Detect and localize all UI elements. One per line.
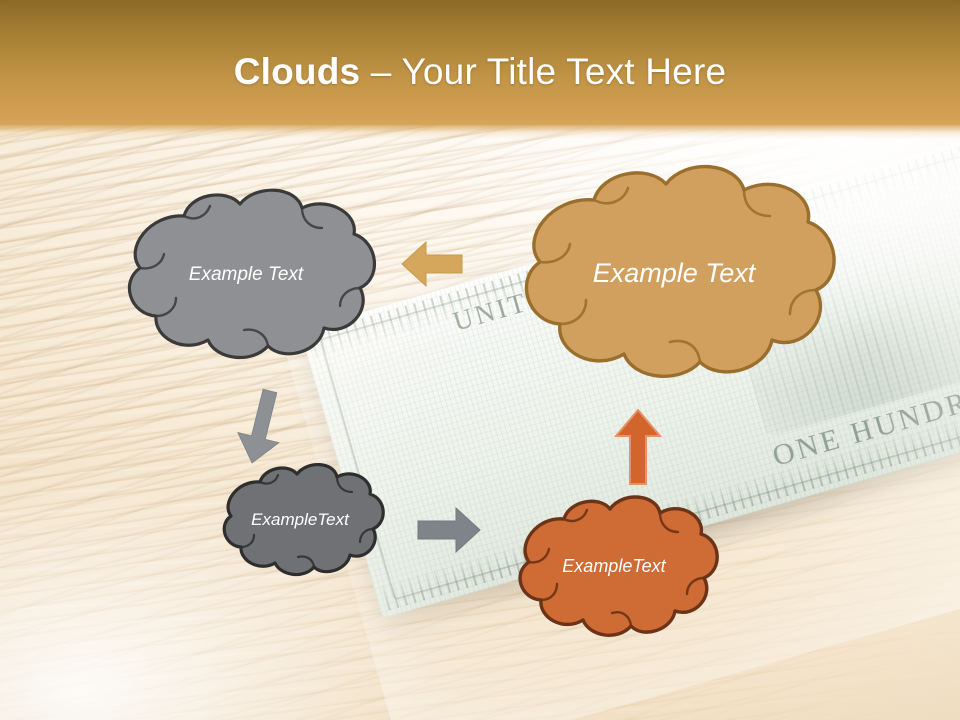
arrow-right-gray-icon[interactable]: [416, 505, 482, 555]
orange-cloud[interactable]: Example Text: [505, 494, 723, 640]
gray-small-cloud[interactable]: Example Text: [212, 462, 388, 578]
page-title: Clouds – Your Title Text Here: [0, 52, 960, 92]
title-bar-edge-glow: [0, 125, 960, 139]
gray-large-cloud[interactable]: Example Text: [110, 186, 382, 364]
slide-canvas: United States In God One Hundred Clouds …: [0, 0, 960, 720]
page-title-rest: Your Title Text Here: [401, 51, 726, 92]
page-title-separator: –: [360, 51, 401, 92]
page-title-bold: Clouds: [234, 51, 361, 92]
arrow-up-orange-icon[interactable]: [612, 408, 664, 486]
gold-cloud[interactable]: Example Text: [502, 162, 846, 384]
arrow-left-gold-icon[interactable]: [400, 238, 464, 290]
